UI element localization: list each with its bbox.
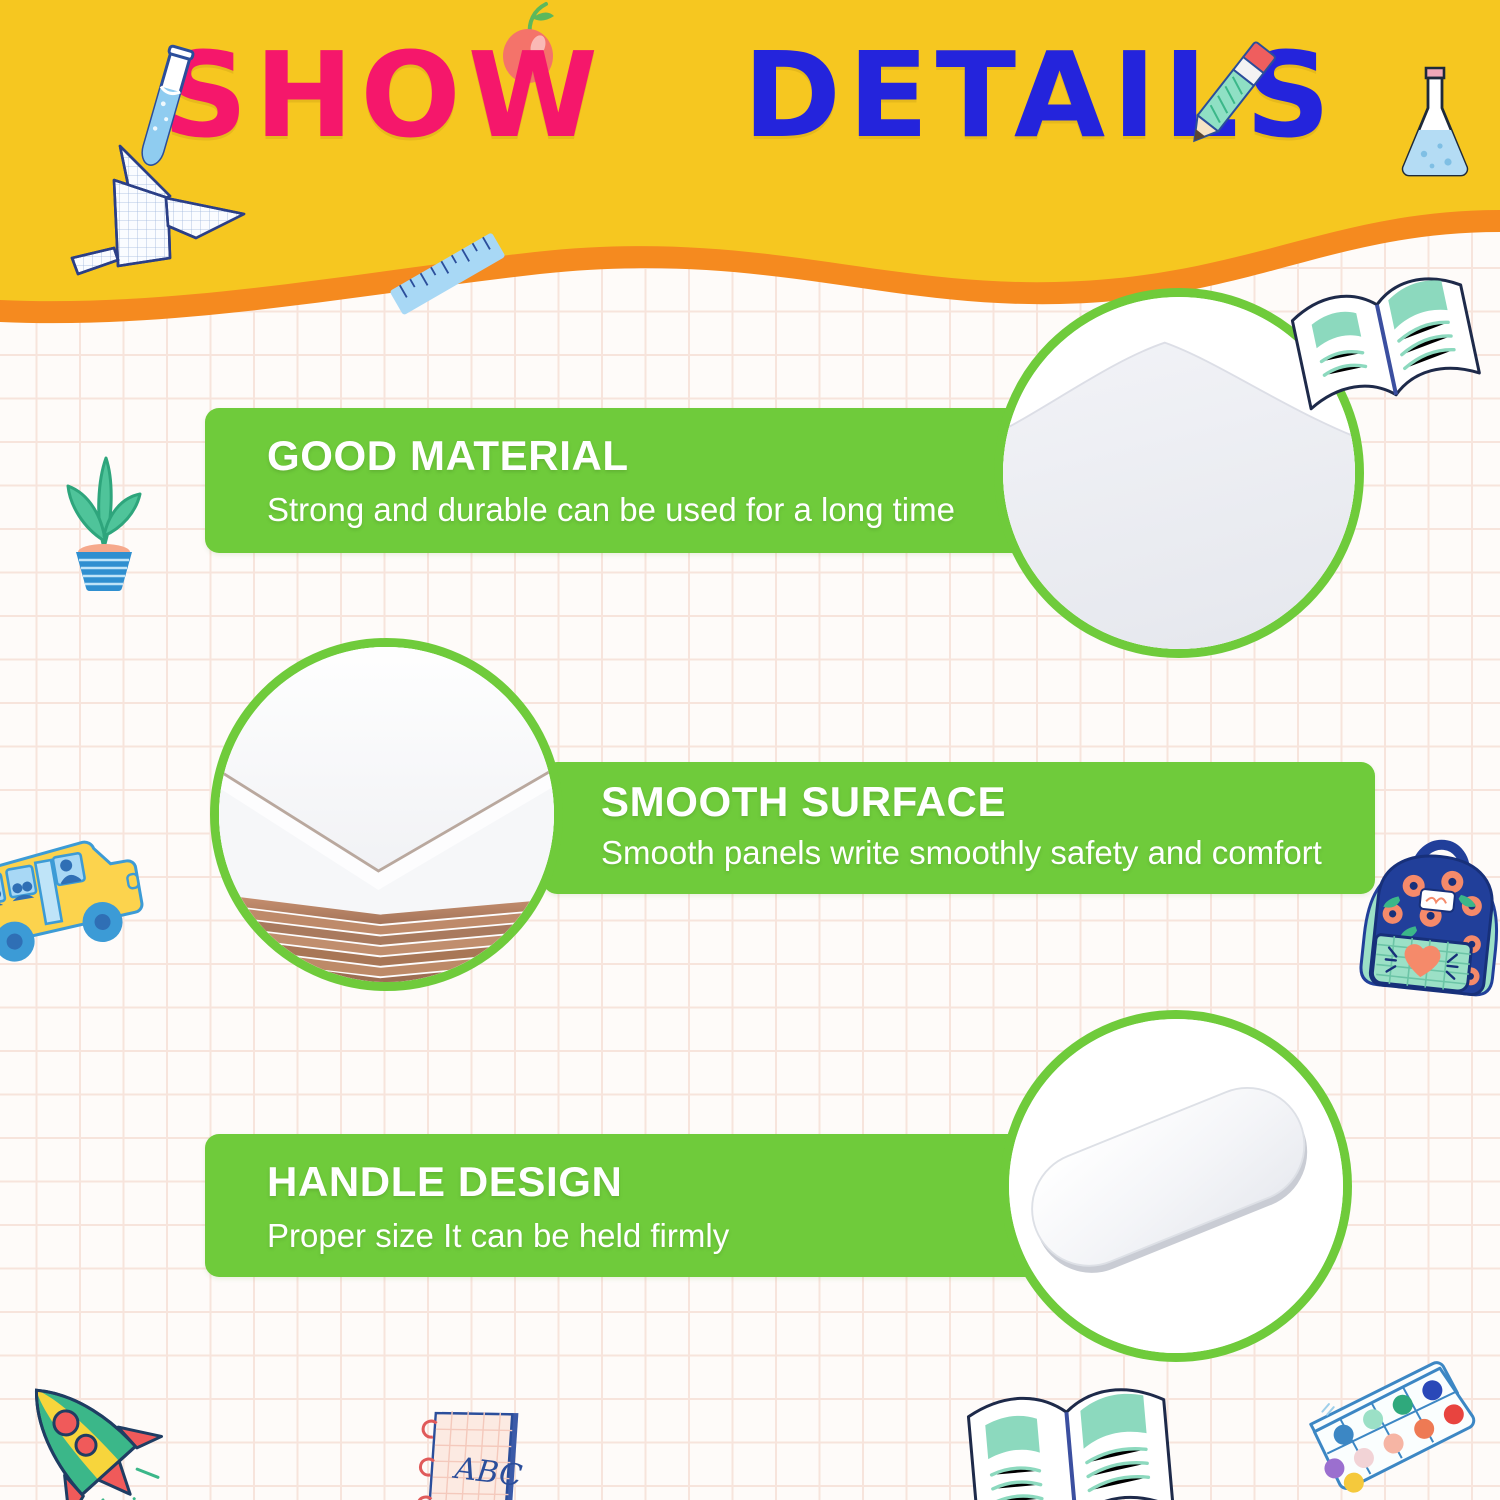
feature-banner-smooth-surface[interactable]: SMOOTH SURFACE Smooth panels write smoot… (543, 762, 1375, 894)
paint-palette-icon (1294, 1352, 1484, 1492)
ruler-icon (382, 228, 512, 318)
feature-photo-handle-design (1000, 1010, 1352, 1362)
feature-title: GOOD MATERIAL (267, 432, 629, 480)
feature-banner-handle-design[interactable]: HANDLE DESIGN Proper size It can be held… (205, 1134, 1050, 1277)
feature-photo-smooth-surface (210, 638, 563, 991)
origami-bird-icon (48, 140, 258, 285)
feature-subtitle: Strong and durable can be used for a lon… (267, 491, 955, 529)
feature-banner-good-material[interactable]: GOOD MATERIAL Strong and durable can be … (205, 408, 1045, 553)
infographic-page: SHOW DETAILS GOOD MATERIAL Strong and du… (0, 0, 1500, 1500)
feature-title: HANDLE DESIGN (267, 1158, 623, 1206)
feature-subtitle: Smooth panels write smoothly safety and … (601, 834, 1322, 872)
feature-title: SMOOTH SURFACE (601, 778, 1006, 826)
open-book-icon (1284, 258, 1484, 418)
pencil-icon (1176, 32, 1286, 162)
flask-icon (1392, 62, 1478, 184)
open-book-bottom-icon (960, 1378, 1180, 1500)
rocket-icon (0, 1368, 174, 1500)
feature-subtitle: Proper size It can be held firmly (267, 1217, 729, 1255)
potted-plant-icon (48, 432, 158, 592)
backpack-icon (1352, 832, 1500, 1012)
abc-notebook-icon: ABC (408, 1398, 538, 1500)
school-bus-icon (0, 824, 166, 974)
cherry-icon (488, 2, 568, 88)
